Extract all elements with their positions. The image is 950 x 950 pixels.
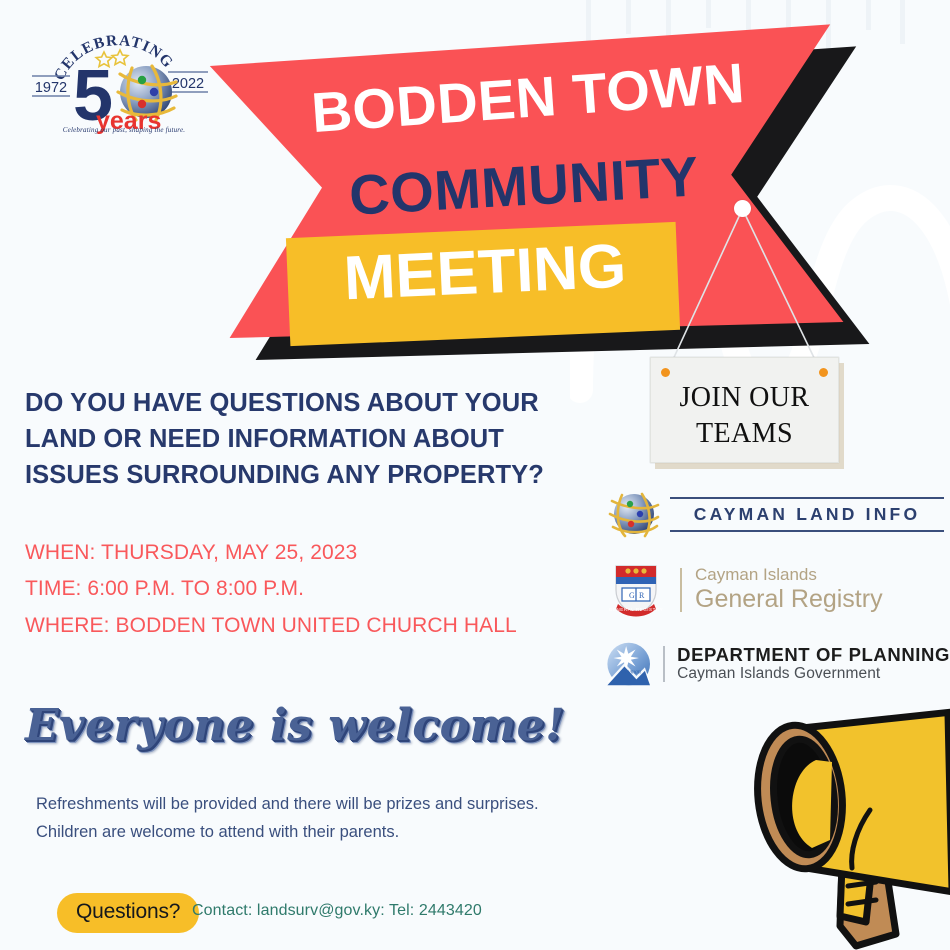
logo-tagline: Celebrating our past, shaping the future… [44,126,204,134]
sign-line-1: JOIN OUR [651,380,838,416]
anniversary-logo: CELEBRATING 1972 2022 5 [18,22,218,137]
event-when: WHEN: THURSDAY, MAY 25, 2023 [25,535,585,571]
logo-year-start: 1972 [35,80,67,96]
fineprint-line-2: Children are welcome to attend with thei… [36,818,596,846]
fineprint: Refreshments will be provided and there … [36,790,596,847]
welcome-message: Everyone is welcome! [25,700,565,751]
svg-text:R: R [639,591,645,600]
fineprint-line-1: Refreshments will be provided and there … [36,790,596,818]
logo-department-of-planning: Cayman DEPARTMENT OF PLANNING Cayman Isl… [604,634,950,694]
planning-badge-icon: Cayman [604,635,653,693]
sign-board: JOIN OUR TEAMS [650,357,839,463]
registry-divider [680,568,682,612]
cayman-land-info-text: CAYMAN LAND INFO [670,504,944,525]
sign-text: JOIN OUR TEAMS [651,380,838,452]
poster-canvas: CELEBRATING 1972 2022 5 [0,0,950,950]
planning-line-1: DEPARTMENT OF PLANNING [677,644,950,665]
event-details: WHEN: THURSDAY, MAY 25, 2023 TIME: 6:00 … [25,535,585,644]
event-where: WHERE: BODDEN TOWN UNITED CHURCH HALL [25,608,585,644]
questions-badge[interactable]: Questions? [57,893,199,933]
sign-line-2: TEAMS [651,416,838,452]
globe-icon [604,486,660,542]
registry-line-2: General Registry [695,586,883,614]
megaphone-icon [690,690,950,950]
crest-ribbon-label: GENERAL REGISTRY [609,607,663,612]
sign-dot-right-icon [819,368,828,377]
event-time: TIME: 6:00 P.M. TO 8:00 P.M. [25,571,585,607]
sign-dot-left-icon [661,368,670,377]
registry-line-1: Cayman Islands [695,566,883,585]
logo-cayman-land-info: CAYMAN LAND INFO [604,486,944,542]
planning-script-label: Cayman [621,669,641,675]
page-headline: DO YOU HAVE QUESTIONS ABOUT YOUR LAND OR… [25,385,565,494]
planning-line-2: Cayman Islands Government [677,665,950,684]
crest-icon: G R GENERAL REGISTRY [604,558,668,622]
logo-general-registry: G R GENERAL REGISTRY Cayman Islands Gene… [604,558,944,622]
planning-divider [663,646,665,682]
join-our-teams-sign: JOIN OUR TEAMS [612,190,912,490]
sign-nail-icon [734,200,751,217]
svg-text:G: G [629,591,635,600]
contact-info[interactable]: Contact: landsurv@gov.ky: Tel: 2443420 [192,902,482,920]
cayman-land-info-rules: CAYMAN LAND INFO [670,497,944,532]
